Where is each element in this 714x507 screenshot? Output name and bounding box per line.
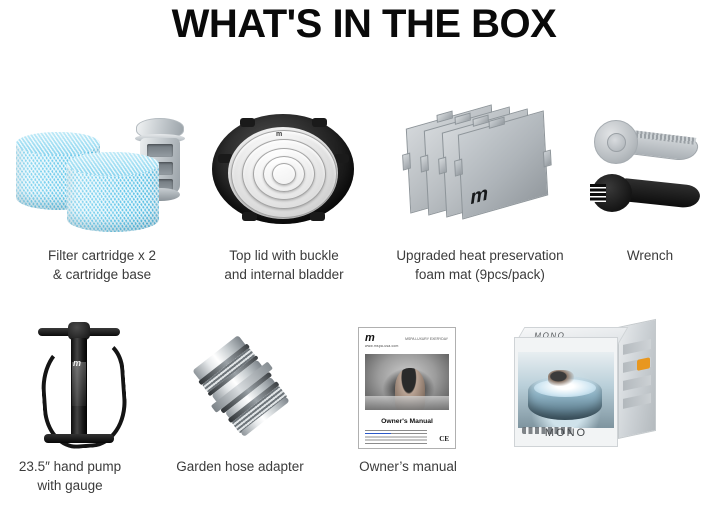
box-side-badge xyxy=(637,357,650,371)
manual-cover-photo xyxy=(365,354,449,410)
product-image-hand-pump: m xyxy=(28,318,132,448)
box-front-panel: MONO xyxy=(514,337,618,447)
top-lid-buckle xyxy=(242,212,257,221)
product-image-garden-hose-adapter xyxy=(196,334,286,438)
cartridge-base-slot xyxy=(147,144,173,157)
manual-title: Owner's Manual xyxy=(359,418,455,425)
top-lid-buckle xyxy=(312,118,327,127)
top-lid-buckle xyxy=(310,212,325,221)
ce-mark-icon: CE xyxy=(439,435,449,443)
brand-logo-icon: m xyxy=(470,183,488,210)
wrench-gray-hub xyxy=(607,133,626,152)
caption-filter-cartridge: Filter cartridge x 2 & cartridge base xyxy=(2,246,202,284)
product-image-top-lid: m xyxy=(212,108,354,230)
pump-foot-base xyxy=(44,434,114,443)
page-title: WHAT'S IN THE BOX xyxy=(0,2,714,47)
caption-top-lid: Top lid with buckle and internal bladder xyxy=(200,246,368,284)
box-photo-people xyxy=(548,370,574,386)
box-side-panel xyxy=(618,319,656,439)
top-lid-bladder: m xyxy=(228,127,338,219)
caption-foam-mat: Upgraded heat preservation foam mat (9pc… xyxy=(370,246,590,284)
manual-link-line xyxy=(365,433,391,434)
product-image-filter-cartridge xyxy=(12,112,192,230)
wrench-black-teeth xyxy=(590,184,606,202)
adapter-body xyxy=(192,335,289,437)
product-image-owners-manual: m www.mspa-usa.com MSPA LUXURY EXERYDAY … xyxy=(358,327,456,449)
box-brand-label: MONO xyxy=(515,427,617,439)
pump-label xyxy=(72,362,86,406)
caption-wrench: Wrench xyxy=(600,246,700,265)
filter-cartridge-2 xyxy=(67,152,159,232)
caption-garden-hose-adapter: Garden hose adapter xyxy=(170,457,310,476)
caption-hand-pump: 23.5″ hand pump with gauge xyxy=(0,457,140,495)
manual-brandline: MSPA LUXURY EXERYDAY xyxy=(405,337,448,341)
product-image-wrench xyxy=(588,112,708,224)
top-lid-rim: m xyxy=(212,114,354,224)
caption-owners-manual: Owner’s manual xyxy=(340,457,476,476)
top-lid-buckle xyxy=(240,118,255,127)
product-image-retail-box: MONO MONO xyxy=(508,325,660,453)
box-cover-photo xyxy=(518,352,614,428)
manual-logo-subtext: www.mspa-usa.com xyxy=(365,344,449,348)
infographic-canvas: WHAT'S IN THE BOX Filter cartridge x 2 &… xyxy=(0,0,714,507)
brand-logo-icon: m xyxy=(73,358,81,368)
brand-logo-icon: m xyxy=(276,131,282,138)
manual-cover: m www.mspa-usa.com MSPA LUXURY EXERYDAY … xyxy=(358,327,456,449)
product-image-foam-mat: m xyxy=(400,108,560,230)
